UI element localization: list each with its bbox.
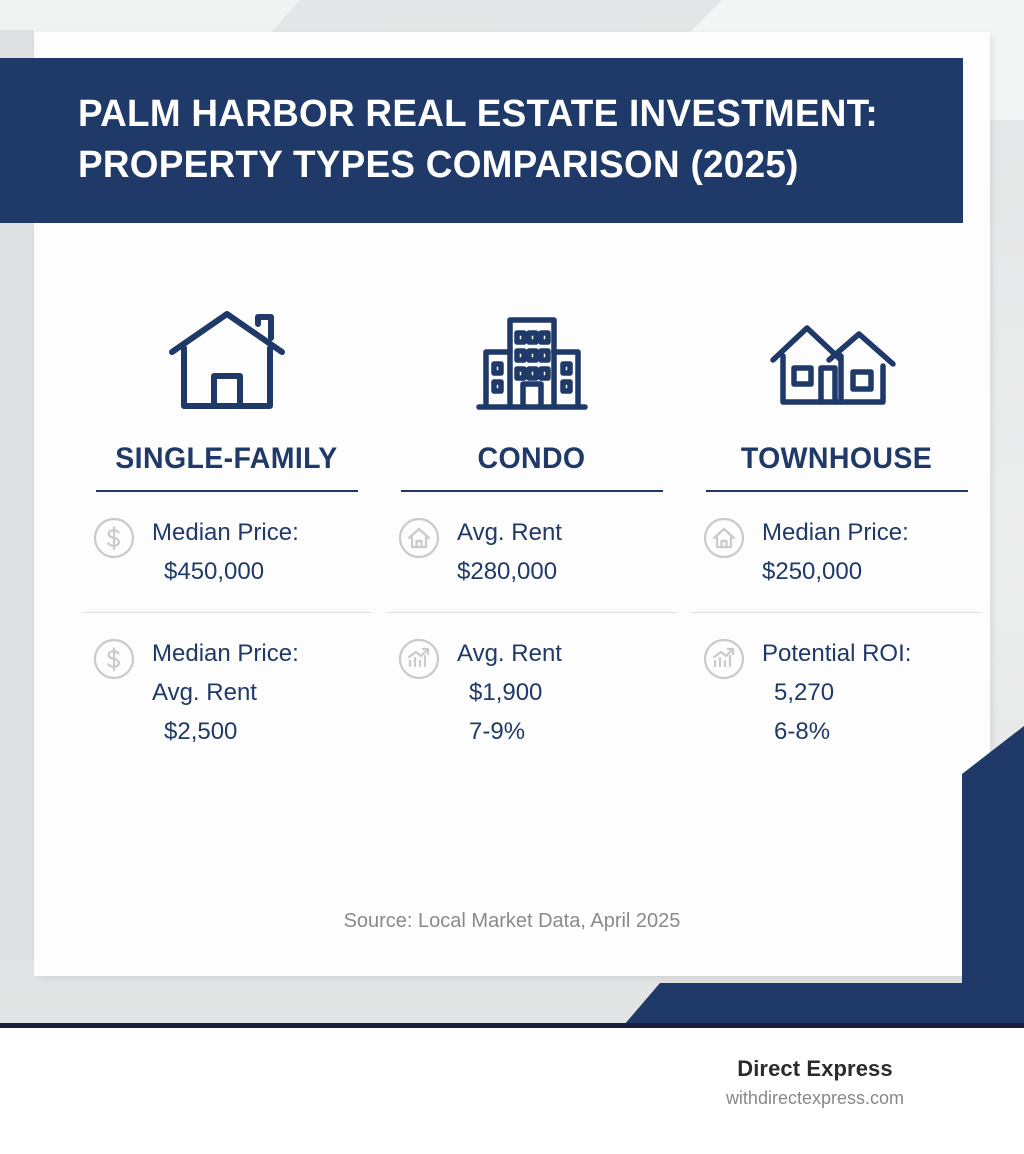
stat-line: 6-8% <box>762 713 911 752</box>
title-bar: PALM HARBOR REAL ESTATE INVESTMENT: PROP… <box>0 58 963 223</box>
apartment-building-icon <box>387 300 676 420</box>
stat-line: Median Price: <box>152 514 299 553</box>
footer: Direct Express withdirectexpress.com <box>0 1028 1024 1154</box>
stat-line: Potential ROI: <box>762 635 911 674</box>
brand-url: withdirectexpress.com <box>726 1088 904 1109</box>
chart-growth-circle-icon <box>702 637 746 681</box>
column-title-condo: CONDO <box>394 442 669 476</box>
stat-line: 7-9% <box>457 713 562 752</box>
chart-growth-circle-icon <box>397 637 441 681</box>
footer-brand-block: Direct Express withdirectexpress.com <box>726 1056 904 1109</box>
column-townhouse: TOWNHOUSE Median Price: $250,000 <box>684 300 989 771</box>
stat-line: $280,000 <box>457 553 562 592</box>
stat-text: Median Price: $250,000 <box>762 514 909 592</box>
stat-row: Potential ROI: 5,270 6-8% <box>692 612 981 772</box>
column-title-single-family: SINGLE-FAMILY <box>89 442 364 476</box>
stat-row: Avg. Rent $1,900 7-9% <box>387 612 676 772</box>
column-condo: CONDO Avg. Rent $280,000 <box>379 300 684 771</box>
source-note: Source: Local Market Data, April 2025 <box>34 910 990 933</box>
decor-band-bottom-right <box>624 983 1024 1025</box>
page-title: PALM HARBOR REAL ESTATE INVESTMENT: PROP… <box>78 89 912 190</box>
decor-corner-bottom-right <box>962 726 1024 1026</box>
comparison-columns: SINGLE-FAMILY Median Price: $450,000 <box>34 300 990 771</box>
brand-name: Direct Express <box>726 1056 904 1082</box>
stat-text: Avg. Rent $280,000 <box>457 514 562 592</box>
stat-line: $450,000 <box>152 553 299 592</box>
page-title-line-2: PROPERTY TYPES COMPARISON (2025) <box>78 140 912 191</box>
column-title-townhouse: TOWNHOUSE <box>699 442 974 476</box>
stat-line: Median Price: <box>762 514 909 553</box>
column-single-family: SINGLE-FAMILY Median Price: $450,000 <box>74 300 379 771</box>
stat-text: Median Price: $450,000 <box>152 514 299 592</box>
stat-row: Median Price: Avg. Rent $2,500 <box>82 612 371 772</box>
page-title-line-1: PALM HARBOR REAL ESTATE INVESTMENT: <box>78 89 912 140</box>
stat-line: $2,500 <box>152 713 299 752</box>
stat-line: Avg. Rent <box>457 514 562 553</box>
infographic-poster: PALM HARBOR REAL ESTATE INVESTMENT: PROP… <box>0 0 1024 1154</box>
stat-row: Median Price: $250,000 <box>692 492 981 612</box>
stat-line: Avg. Rent <box>457 635 562 674</box>
stat-text: Potential ROI: 5,270 6-8% <box>762 635 911 752</box>
stat-row: Avg. Rent $280,000 <box>387 492 676 612</box>
townhouse-icon <box>692 300 981 420</box>
dollar-circle-icon <box>92 637 136 681</box>
stat-line: 5,270 <box>762 674 911 713</box>
house-circle-icon <box>702 516 746 560</box>
stat-line: $250,000 <box>762 553 909 592</box>
stat-row: Median Price: $450,000 <box>82 492 371 612</box>
dollar-circle-icon <box>92 516 136 560</box>
stat-line: Avg. Rent <box>152 674 299 713</box>
house-icon <box>82 300 371 420</box>
stat-line: $1,900 <box>457 674 562 713</box>
house-circle-icon <box>397 516 441 560</box>
stat-text: Median Price: Avg. Rent $2,500 <box>152 635 299 752</box>
stat-text: Avg. Rent $1,900 7-9% <box>457 635 562 752</box>
stat-line: Median Price: <box>152 635 299 674</box>
